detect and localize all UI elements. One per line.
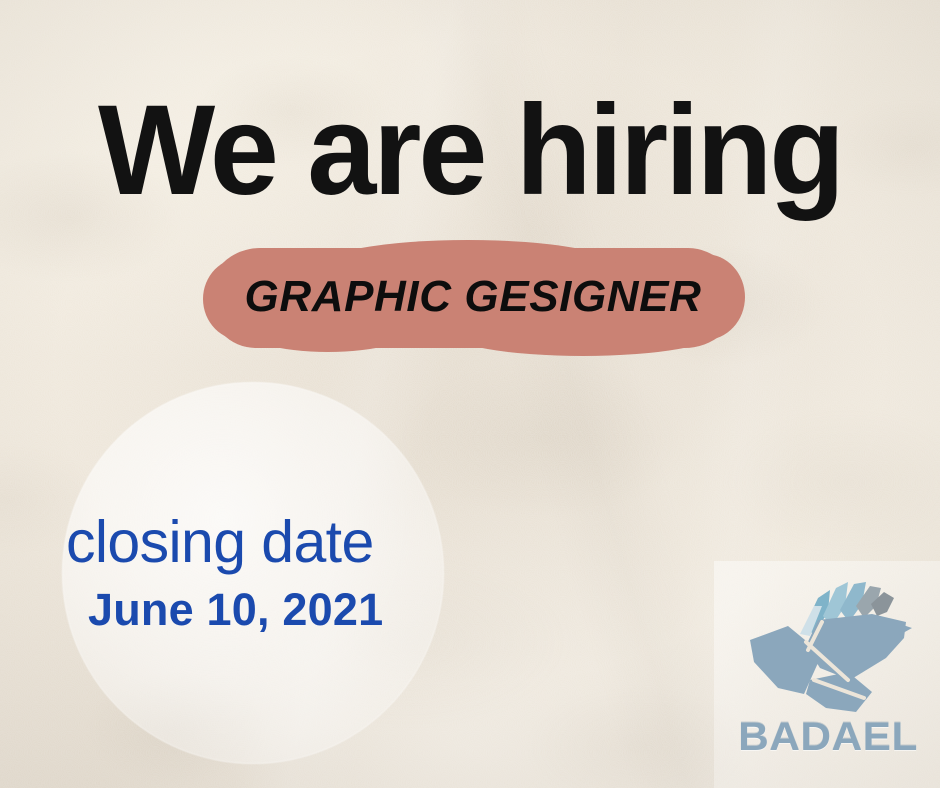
closing-date-label: closing date — [66, 512, 486, 573]
brand-wordmark: BADAEL — [733, 715, 924, 760]
page-title: We are hiring — [14, 86, 926, 217]
role-banner: GRAPHIC GESIGNER — [208, 248, 738, 348]
hiring-poster: We are hiring GRAPHIC GESIGNER closing d… — [0, 0, 940, 788]
closing-date-value: June 10, 2021 — [88, 587, 486, 634]
origami-dove-icon — [744, 576, 912, 716]
brand-logo: BADAEL — [738, 576, 918, 772]
closing-date-block: closing date June 10, 2021 — [66, 512, 486, 634]
role-banner-label: GRAPHIC GESIGNER — [208, 248, 738, 348]
